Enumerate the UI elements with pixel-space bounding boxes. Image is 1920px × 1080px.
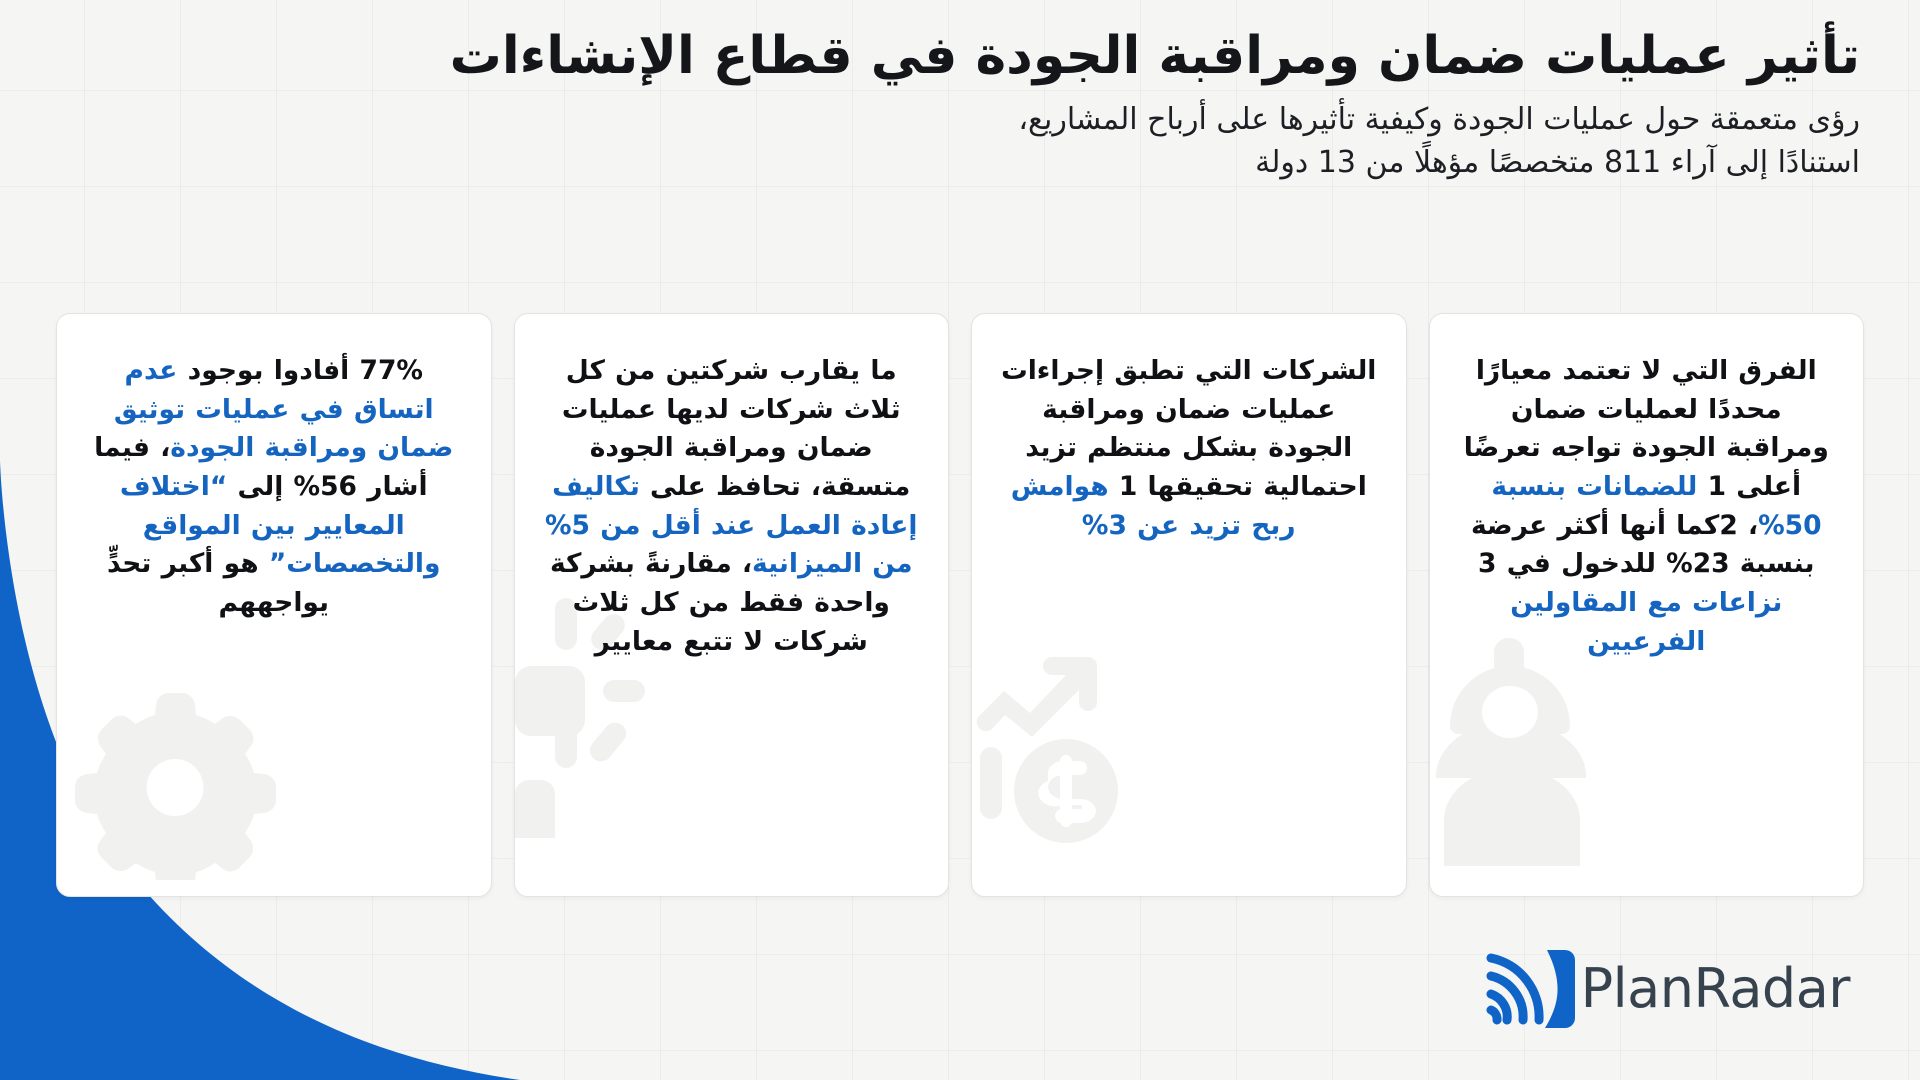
stat-card-text: ما يقارب شركتين من كل ثلاث شركات لديها ع… <box>541 352 923 662</box>
planradar-logo: PlanRadar <box>1485 946 1858 1032</box>
growth-dollar-icon <box>974 651 1154 866</box>
stat-card: 77% أفادوا بوجود عدم اتساق في عمليات توث… <box>56 313 492 897</box>
subtitle-line-2: استنادًا إلى آراء 811 متخصصًا مؤهلًا من … <box>60 142 1860 185</box>
gear-icon <box>61 665 276 880</box>
subtitle-line-1: رؤى متعمقة حول عمليات الجودة وكيفية تأثي… <box>60 99 1860 142</box>
page-title: تأثير عمليات ضمان ومراقبة الجودة في قطاع… <box>60 26 1860 87</box>
highlighted-text: نزاعات مع المقاولين الفرعيين <box>1510 587 1782 657</box>
body-text: 77% أفادوا بوجود <box>177 355 423 386</box>
stat-card: الفرق التي لا تعتمد معيارًا محددًا لعملي… <box>1429 313 1865 897</box>
header: تأثير عمليات ضمان ومراقبة الجودة في قطاع… <box>0 0 1920 185</box>
logo-wordmark: PlanRadar <box>1581 962 1850 1016</box>
stat-card: ما يقارب شركتين من كل ثلاث شركات لديها ع… <box>514 313 950 897</box>
stat-card-list: 77% أفادوا بوجود عدم اتساق في عمليات توث… <box>56 313 1864 897</box>
planradar-waves-icon <box>1485 946 1581 1032</box>
stat-card-text: الفرق التي لا تعتمد معيارًا محددًا لعملي… <box>1456 352 1838 662</box>
stat-card: الشركات التي تطبق إجراءات عمليات ضمان وم… <box>971 313 1407 897</box>
worker-helmet-icon <box>1436 630 1651 870</box>
stat-card-text: 77% أفادوا بوجود عدم اتساق في عمليات توث… <box>83 352 465 623</box>
page-subtitle: رؤى متعمقة حول عمليات الجودة وكيفية تأثي… <box>60 99 1860 184</box>
stat-card-text: الشركات التي تطبق إجراءات عمليات ضمان وم… <box>998 352 1380 545</box>
infographic-canvas: تأثير عمليات ضمان ومراقبة الجودة في قطاع… <box>0 0 1920 1080</box>
